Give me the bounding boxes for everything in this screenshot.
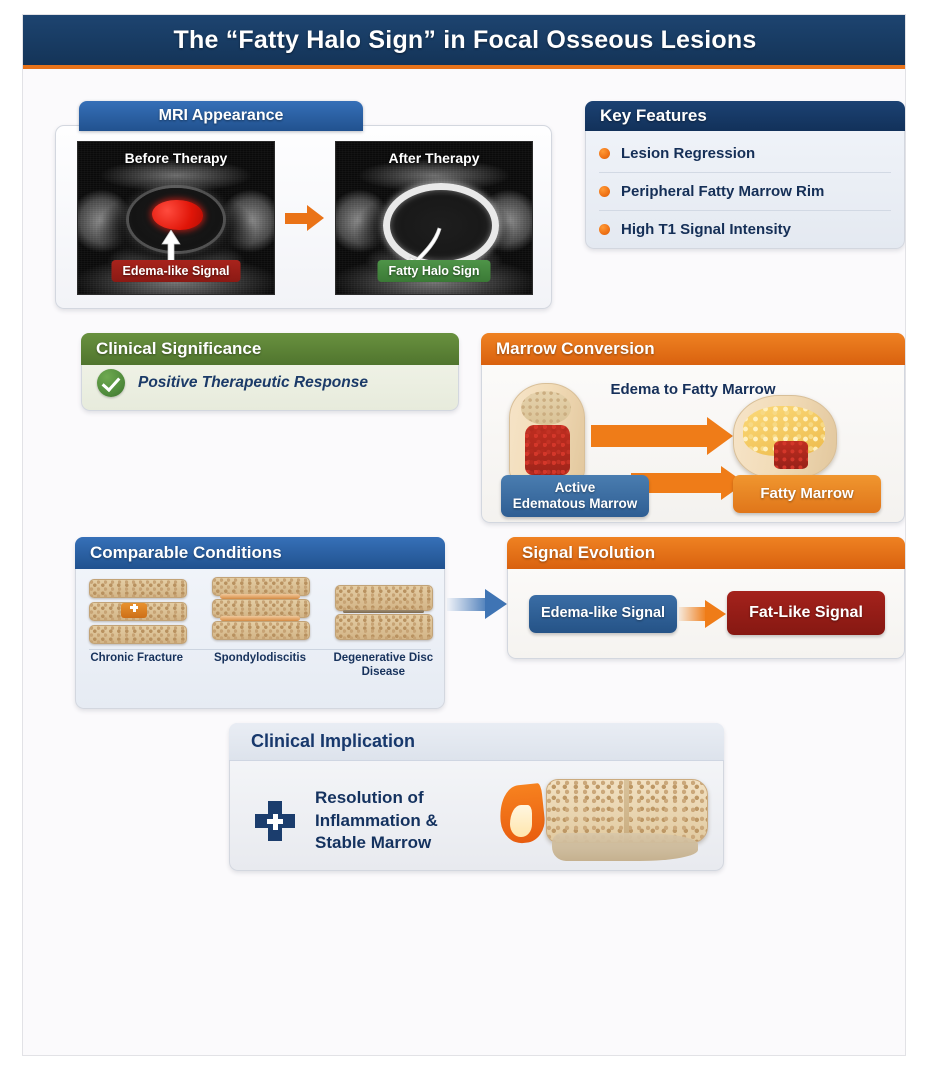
key-features-card: Key Features Lesion Regression Periphera… [585, 101, 905, 249]
flame-icon [500, 785, 544, 843]
mri-appearance-header-label: MRI Appearance [159, 107, 284, 125]
mri-appearance-header: MRI Appearance [79, 101, 363, 131]
clinical-significance-statement: Positive Therapeutic Response [138, 374, 368, 392]
key-features-list: Lesion Regression Peripheral Fatty Marro… [585, 135, 905, 248]
fatty-marrow-label: Fatty Marrow [733, 475, 881, 513]
comparable-conditions-header-label: Comparable Conditions [90, 543, 282, 563]
edema-lesion-marker [152, 200, 203, 230]
list-item: Peripheral Fatty Marrow Rim [599, 173, 891, 211]
marrow-conversion-header-label: Marrow Conversion [496, 339, 655, 359]
chronic-fracture-illustration [89, 577, 185, 645]
fracture-marker-icon [121, 603, 147, 618]
edema-like-signal-label: Edema-like Signal [529, 595, 677, 633]
signal-evolution-card: Signal Evolution Edema-like Signal Fat-L… [507, 537, 905, 659]
page-title: The “Fatty Halo Sign” in Focal Osseous L… [174, 26, 757, 55]
comparable-conditions-card: Comparable Conditions Chronic Fracture [75, 537, 445, 709]
clinical-implication-header: Clinical Implication [229, 723, 724, 761]
signal-evolution-header-label: Signal Evolution [522, 543, 655, 563]
mri-after-image: After Therapy Fatty Halo Sign [335, 141, 533, 295]
list-item: Chronic Fracture [82, 577, 192, 665]
edema-like-signal-tag: Edema-like Signal [112, 260, 241, 282]
active-marrow-line1: Active [555, 480, 596, 495]
degenerative-disc-disease-illustration [335, 577, 431, 645]
mri-after-title: After Therapy [336, 150, 532, 166]
comparable-conditions-header: Comparable Conditions [75, 537, 445, 569]
list-item: Lesion Regression [599, 135, 891, 173]
bullet-dot-icon [599, 224, 610, 235]
yellow-marrow-region [521, 391, 571, 425]
clinical-implication-line1: Resolution of [315, 787, 438, 809]
list-item: Degenerative Disc Disease [328, 577, 438, 680]
clinical-implication-text: Resolution of Inflammation & Stable Marr… [315, 787, 438, 854]
mri-appearance-card: MRI Appearance Before Therapy Edema-like… [55, 101, 552, 309]
infographic-poster: The “Fatty Halo Sign” in Focal Osseous L… [22, 14, 906, 1056]
clinical-implication-line2: Inflammation & [315, 810, 438, 832]
checkmark-icon [97, 369, 125, 397]
bullet-dot-icon [599, 186, 610, 197]
comparable-conditions-list: Chronic Fracture Spondylodiscitis [75, 577, 445, 680]
key-features-header: Key Features [585, 101, 905, 131]
key-features-header-label: Key Features [600, 106, 707, 126]
clinical-implication-header-label: Clinical Implication [251, 731, 415, 752]
key-feature-label: Lesion Regression [621, 145, 755, 162]
poster-title-bar: The “Fatty Halo Sign” in Focal Osseous L… [23, 15, 906, 69]
comparable-condition-label: Degenerative Disc Disease [328, 651, 438, 680]
fatty-bone-illustration [733, 395, 835, 477]
comparable-condition-label: Spondylodiscitis [205, 651, 315, 665]
comparable-condition-label: Chronic Fracture [82, 651, 192, 665]
clinical-implication-line3: Stable Marrow [315, 832, 438, 854]
red-marrow-region [525, 425, 569, 475]
inflammation-resolution-illustration [494, 773, 712, 865]
spondylodiscitis-illustration [212, 577, 308, 645]
key-feature-label: Peripheral Fatty Marrow Rim [621, 183, 824, 200]
clinical-significance-header: Clinical Significance [81, 333, 459, 365]
mri-before-title: Before Therapy [78, 150, 274, 166]
medical-cross-icon [255, 801, 295, 841]
clinical-significance-row: Positive Therapeutic Response [97, 369, 368, 397]
list-item: Spondylodiscitis [205, 577, 315, 665]
active-edematous-marrow-label: Active Edematous Marrow [501, 475, 649, 517]
clinical-implication-card: Clinical Implication Resolution of Infla… [229, 723, 724, 871]
vertebra-shadow [552, 833, 698, 861]
residual-red-marrow-region [774, 441, 809, 469]
fatty-halo-sign-tag: Fatty Halo Sign [378, 260, 491, 282]
key-feature-label: High T1 Signal Intensity [621, 221, 791, 238]
edematous-bone-illustration [509, 383, 583, 483]
active-marrow-line2: Edematous Marrow [513, 496, 638, 511]
signal-evolution-header: Signal Evolution [507, 537, 905, 569]
list-item: High T1 Signal Intensity [599, 211, 891, 248]
bullet-dot-icon [599, 148, 610, 159]
marrow-conversion-header: Marrow Conversion [481, 333, 905, 365]
mri-before-image: Before Therapy Edema-like Signal [77, 141, 275, 295]
therapy-transition-arrow-icon [285, 205, 325, 231]
mri-image-pair: Before Therapy Edema-like Signal After T… [77, 141, 533, 295]
marrow-conversion-card: Marrow Conversion Edema to Fatty Marrow … [481, 333, 905, 523]
marrow-conversion-arrow-upper-icon [591, 425, 733, 447]
clinical-significance-header-label: Clinical Significance [96, 339, 261, 359]
signal-evolution-arrow-icon [679, 603, 727, 625]
clinical-significance-card: Clinical Significance Positive Therapeut… [81, 333, 459, 411]
fat-like-signal-label: Fat-Like Signal [727, 591, 885, 635]
conditions-to-signal-arrow-icon [447, 589, 509, 619]
